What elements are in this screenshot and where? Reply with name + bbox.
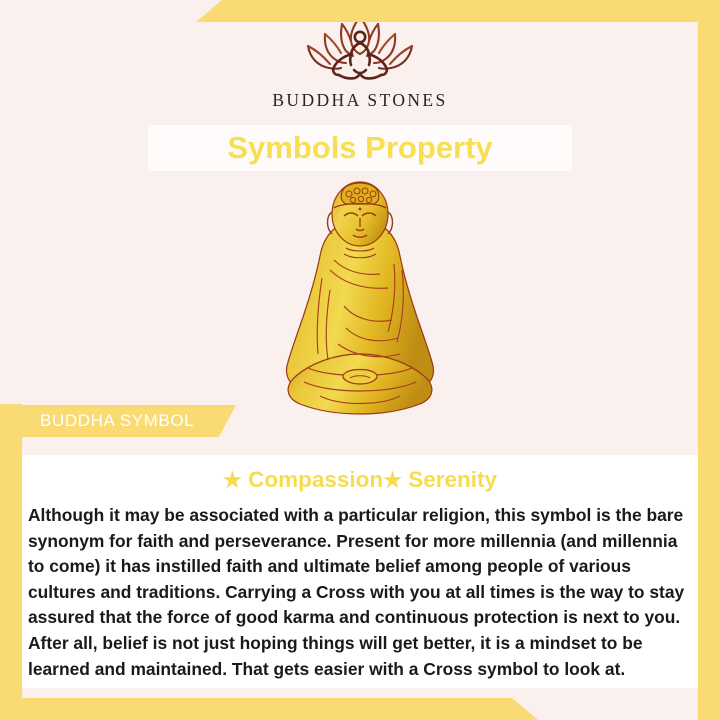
content-card: ★ Compassion★ Serenity Although it may b… — [22, 455, 698, 688]
brand-name: BUDDHA STONES — [272, 90, 447, 111]
subtitle-word-serenity: Serenity — [402, 467, 497, 492]
golden-seated-buddha-statue — [260, 178, 460, 420]
content-subtitle: ★ Compassion★ Serenity — [22, 467, 698, 493]
poster-root: BUDDHA STONES Symbols Property — [0, 0, 720, 720]
star-icon-left: ★ — [223, 469, 242, 492]
badge-label: BUDDHA SYMBOL — [22, 411, 194, 431]
page-title: Symbols Property — [227, 130, 492, 166]
frame-top-bar — [196, 0, 720, 22]
star-icon-right: ★ — [383, 469, 402, 492]
frame-left-bar — [0, 404, 22, 720]
frame-bottom-bar — [0, 698, 720, 720]
subtitle-word-compassion: Compassion — [242, 467, 383, 492]
content-paragraph: Although it may be associated with a par… — [28, 503, 692, 682]
title-banner: Symbols Property — [148, 125, 572, 171]
status-badge-buddha-symbol: BUDDHA SYMBOL — [22, 405, 236, 437]
frame-right-bar — [698, 0, 720, 720]
